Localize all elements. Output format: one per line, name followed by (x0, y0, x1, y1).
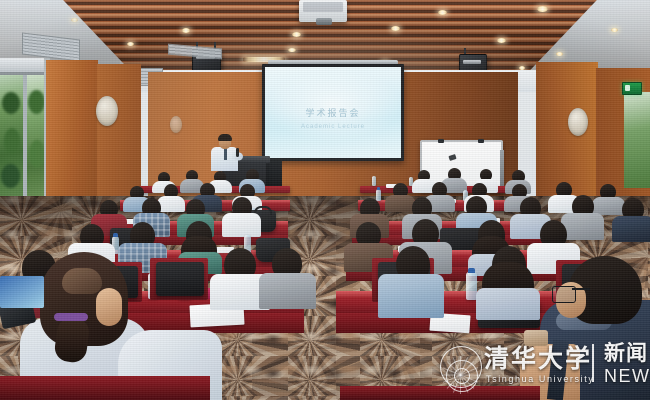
acoustic-disc-center (170, 116, 182, 133)
whiteboard-clip (438, 139, 444, 143)
ceiling-light (497, 38, 506, 43)
slide-subline: Academic Lecture (290, 124, 376, 134)
ceiling-light (537, 6, 548, 12)
tablet-screen (0, 276, 44, 308)
window-far-right (624, 92, 650, 188)
attendee-torso (612, 216, 650, 242)
window-blind-edge (0, 72, 50, 75)
window-mullion (23, 62, 27, 210)
water-bottle (376, 189, 381, 201)
window-pane-left (0, 66, 24, 206)
ceiling-light (71, 18, 78, 22)
ceiling-light (611, 28, 618, 32)
presenter-microphone (236, 148, 239, 157)
slide-headline: 学术报告会 (275, 106, 391, 120)
chair-back (156, 262, 204, 296)
glasses-temple (572, 288, 590, 290)
exit-sign (622, 82, 642, 95)
tsinghua-seal-icon (440, 346, 482, 388)
watermark: 清华大学 Tsinghua University 新闻 NEWS (440, 338, 650, 394)
ceiling-light (438, 10, 447, 15)
acoustic-disc-right (568, 108, 588, 136)
watermark-divider (592, 344, 594, 382)
attendee-torso (157, 196, 185, 212)
ceiling-light (182, 28, 190, 33)
watermark-section-en: NEWS (604, 366, 650, 387)
acoustic-disc-left (96, 96, 118, 126)
ceiling-light (391, 26, 400, 31)
whiteboard-clip (478, 139, 484, 143)
attendee-torso (259, 273, 316, 309)
watermark-section-cn: 新闻 (604, 341, 648, 365)
projector-label (303, 2, 343, 12)
watermark-org-en: Tsinghua University (486, 374, 594, 385)
lecture-hall-photo: 学术报告会 Academic Lecture (0, 0, 650, 400)
attendee-torso (561, 213, 604, 240)
attendee-torso (385, 195, 415, 212)
foreground-person-ear-neck (96, 288, 122, 326)
hair-tie (54, 313, 88, 321)
attendee-torso (222, 213, 261, 237)
water-bottle (372, 176, 376, 186)
ceiling-light (556, 52, 563, 56)
projector-lens (316, 18, 332, 25)
attendee-torso (378, 274, 444, 318)
ceiling-light (292, 32, 301, 37)
presenter-tie (224, 148, 227, 160)
presenter-hair (218, 134, 232, 141)
ceiling-light (288, 48, 296, 52)
watermark-org-cn: 清华大学 (484, 344, 592, 374)
ceiling-light (127, 42, 134, 46)
hair-highlight (62, 268, 102, 294)
attendee-torso (476, 288, 540, 320)
wood-wall-panel-left (46, 60, 98, 210)
desk-row1-front (0, 376, 210, 400)
